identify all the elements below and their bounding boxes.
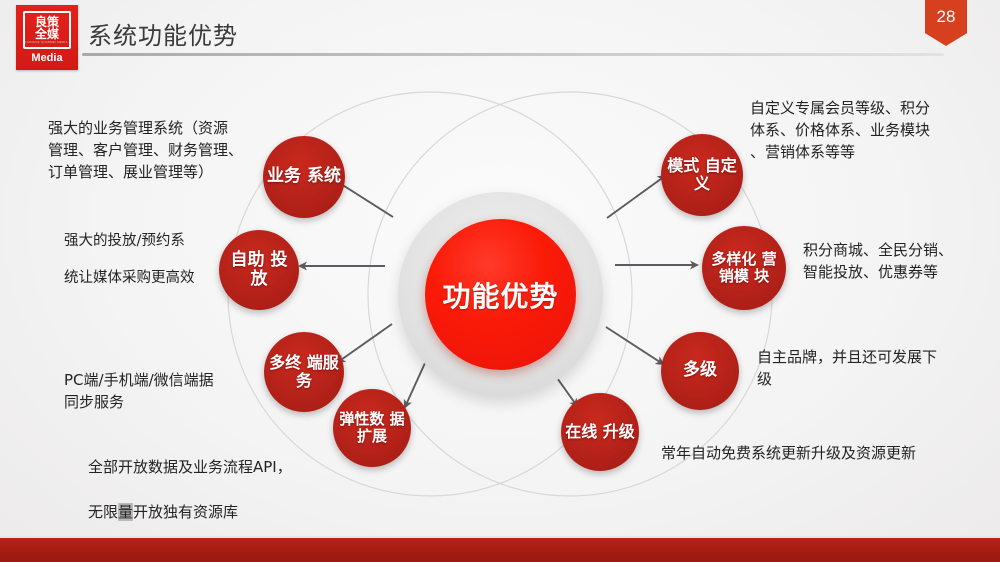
desc-elastic-data-highlight: 量 bbox=[118, 503, 133, 521]
arrow-to-multi-level bbox=[606, 327, 663, 364]
node-elastic-data[interactable]: 弹性数 据扩展 bbox=[333, 389, 411, 467]
desc-elastic-data-line2: 无限量开放独有资源库 bbox=[88, 480, 388, 524]
node-elastic-data-label: 弹性数 据扩展 bbox=[333, 411, 411, 445]
logo-box: 良策 全媒 LIANGCE QUANMEI MEDIA bbox=[23, 11, 71, 49]
desc-elastic-data-part3: 开放独有资源库 bbox=[133, 503, 238, 521]
slide-header: 良策 全媒 LIANGCE QUANMEI MEDIA Media 系统功能优势… bbox=[0, 0, 1000, 62]
arrow-to-mode-custom bbox=[607, 176, 665, 218]
radial-diagram: 功能优势 业务 系统 自助 投放 多终 端服务 弹性数 据扩展 在线 升级 多级… bbox=[0, 62, 1000, 522]
page-title: 系统功能优势 bbox=[88, 16, 238, 51]
company-logo: 良策 全媒 LIANGCE QUANMEI MEDIA Media bbox=[16, 5, 78, 70]
desc-online-upgrade: 常年自动免费系统更新升级及资源更新 bbox=[661, 443, 981, 465]
logo-text-line2: 全媒 bbox=[35, 28, 59, 40]
node-online-upgrade-label: 在线 升级 bbox=[561, 423, 639, 441]
node-multi-level[interactable]: 多级 bbox=[661, 332, 739, 410]
desc-elastic-data-part1: 无限 bbox=[88, 503, 118, 521]
node-multi-level-label: 多级 bbox=[679, 361, 721, 380]
logo-micro-text: LIANGCE QUANMEI MEDIA bbox=[26, 41, 68, 44]
desc-business-system: 强大的业务管理系统（资源 管理、客户管理、财务管理、 订单管理、展业管理等） bbox=[48, 118, 298, 183]
slide-canvas: 良策 全媒 LIANGCE QUANMEI MEDIA Media 系统功能优势… bbox=[0, 0, 1000, 562]
core-circle: 功能优势 bbox=[425, 219, 576, 370]
node-online-upgrade[interactable]: 在线 升级 bbox=[561, 393, 639, 471]
desc-elastic-data-line1: 全部开放数据及业务流程API， bbox=[88, 457, 388, 479]
desc-self-service-line2: 统让媒体采购更高效 bbox=[64, 268, 274, 289]
page-number-text: 28 bbox=[937, 7, 956, 27]
node-mode-custom-label: 模式 自定义 bbox=[661, 157, 743, 193]
page-number-badge: 28 bbox=[925, 0, 967, 46]
desc-multi-level: 自主品牌，并且还可发展下 级 bbox=[757, 347, 967, 391]
core-label: 功能优势 bbox=[442, 275, 558, 315]
desc-mode-custom: 自定义专属会员等级、积分 体系、价格体系、业务模块 、营销体系等等 bbox=[750, 98, 985, 163]
node-mode-custom[interactable]: 模式 自定义 bbox=[661, 134, 743, 216]
desc-multi-terminal: PC端/手机端/微信端据 同步服务 bbox=[64, 370, 304, 414]
desc-self-service-line1: 强大的投放/预约系 bbox=[64, 231, 264, 252]
desc-marketing-modules: 积分商城、全民分销、 智能投放、优惠券等 bbox=[803, 240, 998, 284]
slide-footer-bar bbox=[0, 536, 1000, 562]
node-marketing-modules-label: 多样化 营销模 块 bbox=[702, 251, 786, 285]
node-marketing-modules[interactable]: 多样化 营销模 块 bbox=[702, 226, 786, 310]
arrow-to-multi-terminal bbox=[338, 324, 392, 362]
title-underline-rule bbox=[82, 53, 944, 56]
